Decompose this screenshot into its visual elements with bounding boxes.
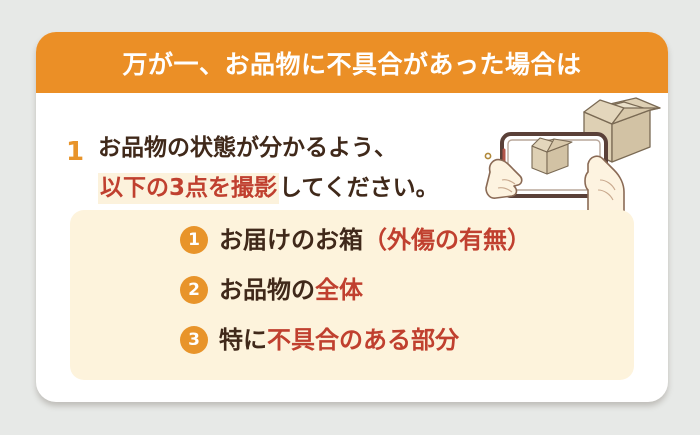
right-hand — [585, 156, 624, 212]
step-instruction-tail: してください。 — [279, 175, 439, 201]
item-text-3: 特に不具合のある部分 — [219, 328, 459, 352]
page-title: 万が一、お品物に不具合があった場合は — [122, 45, 581, 81]
illustration-photo-instruction — [484, 94, 668, 214]
photo-checklist-panel: 1 お届けのお箱（外傷の有無） 2 お品物の全体 3 特に不具合のある部分 — [70, 210, 634, 380]
page-root: 万が一、お品物に不具合があった場合は 1 お品物の状態が分かるよう、 以下の3点… — [0, 0, 700, 435]
camera-lens-icon — [485, 153, 490, 158]
list-item: 3 特に不具合のある部分 — [180, 326, 459, 354]
hands-holding-tablet-icon — [484, 94, 668, 214]
item-text-1: お届けのお箱（外傷の有無） — [219, 228, 531, 252]
step-instruction-line-1: お品物の状態が分かるよう、 — [98, 137, 397, 160]
item-text-2-red: 全体 — [315, 276, 363, 304]
list-item: 1 お届けのお箱（外傷の有無） — [180, 226, 531, 254]
step-number: 1 — [66, 139, 84, 165]
item-text-1-red: （外傷の有無） — [363, 226, 531, 254]
item-badge-2: 2 — [180, 276, 208, 304]
item-text-2-dark: お品物の — [219, 276, 315, 304]
item-text-3-red: 不具合のある部分 — [267, 326, 459, 354]
step-instruction-line-2: 以下の3点を撮影してください。 — [98, 177, 439, 200]
list-item: 2 お品物の全体 — [180, 276, 363, 304]
notice-card: 万が一、お品物に不具合があった場合は 1 お品物の状態が分かるよう、 以下の3点… — [36, 32, 668, 402]
item-text-3-dark: 特に — [219, 326, 267, 354]
step-highlight-text: 以下の3点を撮影 — [98, 173, 279, 204]
item-badge-3: 3 — [180, 326, 208, 354]
item-text-2: お品物の全体 — [219, 278, 363, 302]
item-badge-1: 1 — [180, 226, 208, 254]
item-text-1-dark: お届けのお箱 — [219, 226, 363, 254]
card-header: 万が一、お品物に不具合があった場合は — [36, 32, 668, 93]
